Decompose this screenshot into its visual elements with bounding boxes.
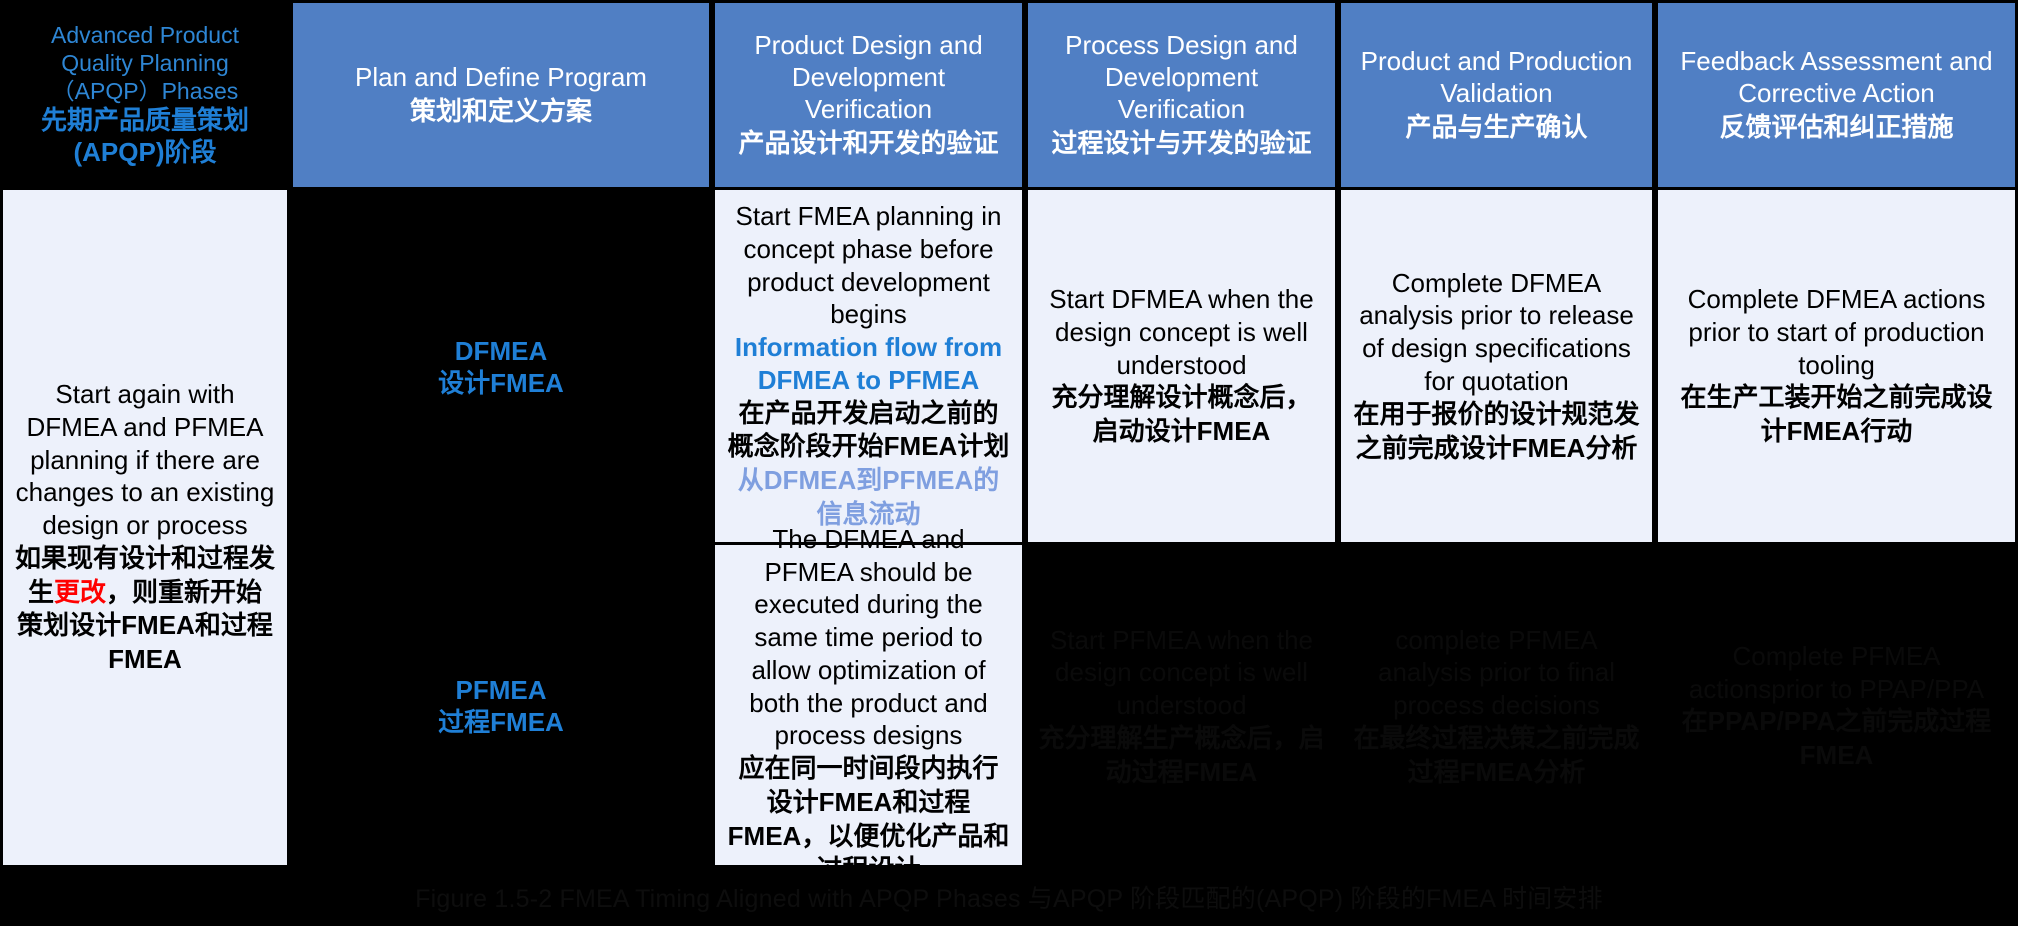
dfmea-cell-5-en: Start again with DFMEA and PFMEA plannin… (15, 378, 275, 542)
phase-header-3: Process Design and Development Verificat… (1025, 0, 1338, 190)
pfmea-cell-2-en: Start PFMEA when the design concept is w… (1037, 624, 1326, 722)
dfmea-cell-5-cn-red: 更改 (54, 577, 106, 607)
table-corner-title: Advanced Product Quality Planning （APQP）… (0, 0, 290, 190)
corner-en-line2: Quality Planning (61, 49, 229, 77)
phase-header-5-cn: 反馈评估和纠正措施 (1719, 111, 1953, 144)
slide-root: Advanced Product Quality Planning （APQP）… (0, 0, 2018, 926)
pfmea-cell-4: Complete PFMEA actionsprior to PPAP/PPA … (1655, 545, 2018, 868)
corner-cn-line2: (APQP)阶段 (73, 137, 216, 169)
pfmea-cell-3: complete PFMEA analysis prior to final p… (1338, 545, 1655, 868)
dfmea-cell-1-en-accent: Information flow from DFMEA to PFMEA (727, 331, 1010, 397)
dfmea-cell-2-cn: 充分理解设计概念后，启动设计FMEA (1040, 381, 1323, 449)
pfmea-cell-4-en: Complete PFMEA actionsprior to PPAP/PPA (1667, 640, 2006, 706)
dfmea-cell-2-en: Start DFMEA when the design concept is w… (1040, 283, 1323, 381)
pfmea-cell-4-cn: 在PPAP/PPA之前完成过程FMEA (1667, 705, 2006, 773)
phase-header-1: Plan and Define Program 策划和定义方案 (290, 0, 712, 190)
pfmea-cell-1-cn: 应在同一时间段内执行设计FMEA和过程FMEA，以便优化产品和过程设计 (727, 752, 1010, 887)
row-header-dfmea-cn: 设计FMEA (438, 368, 564, 400)
dfmea-cell-4-en: Complete DFMEA actions prior to start of… (1670, 283, 2003, 381)
row-header-dfmea: DFMEA 设计FMEA (290, 190, 712, 545)
corner-en-line1: Advanced Product (51, 21, 239, 49)
row-header-pfmea: PFMEA 过程FMEA (290, 545, 712, 868)
dfmea-cell-2: Start DFMEA when the design concept is w… (1025, 190, 1338, 545)
dfmea-cell-5: Start again with DFMEA and PFMEA plannin… (0, 190, 290, 868)
pfmea-cell-1: The DFMEA and PFMEA should be executed d… (712, 545, 1025, 868)
phase-header-1-en: Plan and Define Program (355, 62, 647, 94)
dfmea-cell-3-cn: 在用于报价的设计规范发之前完成设计FMEA分析 (1353, 398, 1640, 466)
pfmea-cell-1-en: The DFMEA and PFMEA should be executed d… (727, 523, 1010, 752)
dfmea-cell-4-cn: 在生产工装开始之前完成设计FMEA行动 (1670, 381, 2003, 449)
corner-cn-line1: 先期产品质量策划 (41, 105, 249, 137)
dfmea-cell-1-cn: 在产品开发启动之前的概念阶段开始FMEA计划 (727, 397, 1010, 465)
phase-header-1-cn: 策划和定义方案 (410, 95, 592, 128)
phase-header-3-en: Process Design and Development Verificat… (1038, 30, 1325, 126)
phase-header-2: Product Design and Development Verificat… (712, 0, 1025, 190)
corner-en-line3: （APQP）Phases (52, 77, 239, 105)
dfmea-cell-3-en: Complete DFMEA analysis prior to release… (1353, 267, 1640, 398)
phase-header-4-cn: 产品与生产确认 (1405, 111, 1587, 144)
fmea-apqp-table: Advanced Product Quality Planning （APQP）… (0, 0, 2018, 926)
dfmea-cell-4: Complete DFMEA actions prior to start of… (1655, 190, 2018, 545)
pfmea-cell-2-cn: 充分理解生产概念后，启动过程FMEA (1037, 722, 1326, 790)
phase-header-4: Product and Production Validation 产品与生产确… (1338, 0, 1655, 190)
dfmea-cell-1-en: Start FMEA planning in concept phase bef… (727, 200, 1010, 331)
row-header-dfmea-en: DFMEA (455, 336, 547, 368)
row-header-pfmea-en: PFMEA (456, 675, 547, 707)
figure-caption: Figure 1.5-2 FMEA Timing Aligned with AP… (0, 868, 2018, 926)
dfmea-cell-5-cn: 如果现有设计和过程发生更改，则重新开始策划设计FMEA和过程FMEA (15, 542, 275, 677)
phase-header-5-en: Feedback Assessment and Corrective Actio… (1668, 46, 2005, 110)
phase-header-5: Feedback Assessment and Corrective Actio… (1655, 0, 2018, 190)
dfmea-cell-3: Complete DFMEA analysis prior to release… (1338, 190, 1655, 545)
dfmea-cell-1-cn-accent: 从DFMEA到PFMEA的信息流动 (727, 464, 1010, 532)
phase-header-3-cn: 过程设计与开发的验证 (1051, 127, 1311, 160)
row-header-pfmea-cn: 过程FMEA (438, 707, 564, 739)
pfmea-cell-3-en: complete PFMEA analysis prior to final p… (1350, 624, 1643, 722)
phase-header-4-en: Product and Production Validation (1351, 46, 1642, 110)
phase-header-2-en: Product Design and Development Verificat… (725, 30, 1012, 126)
pfmea-cell-2: Start PFMEA when the design concept is w… (1025, 545, 1338, 868)
pfmea-cell-3-cn: 在最终过程决策之前完成过程FMEA分析 (1350, 722, 1643, 790)
phase-header-2-cn: 产品设计和开发的验证 (738, 127, 998, 160)
dfmea-cell-1: Start FMEA planning in concept phase bef… (712, 190, 1025, 545)
